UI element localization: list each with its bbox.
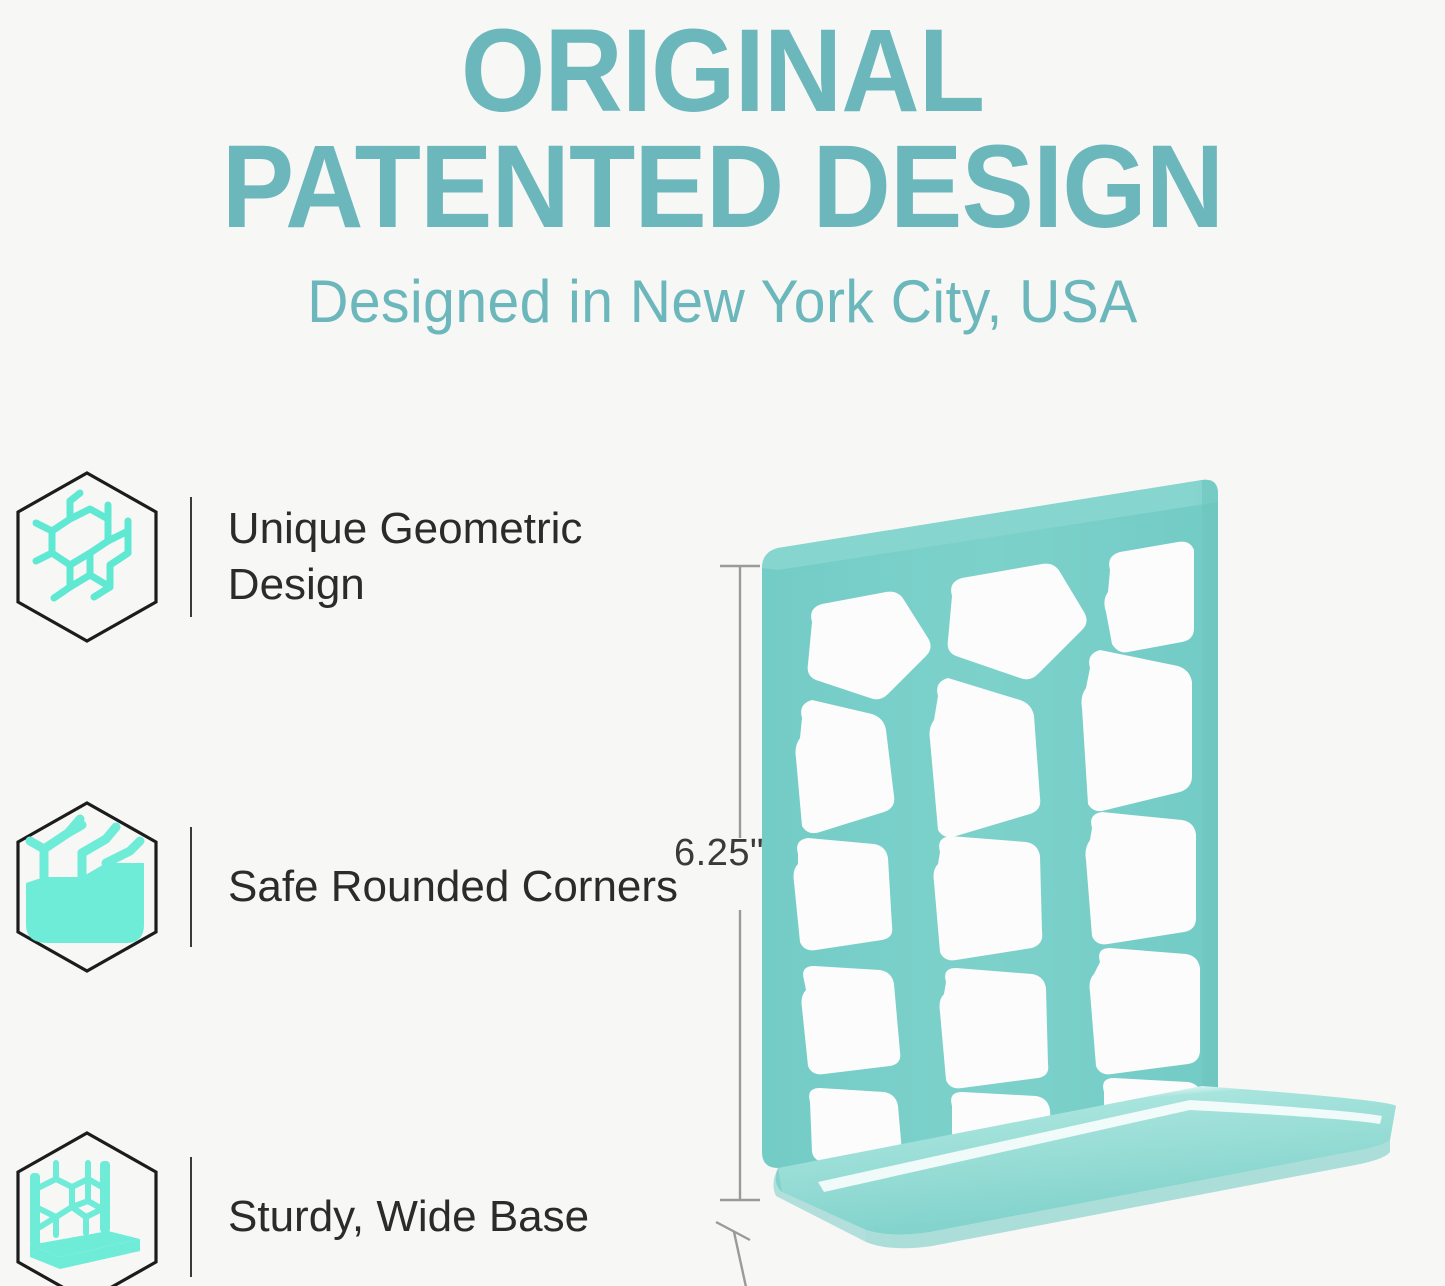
bookend-wide-base-icon bbox=[8, 1127, 166, 1286]
page-subtitle: Designed in New York City, USA bbox=[36, 267, 1409, 336]
page-title-line-2: PATENTED DESIGN bbox=[58, 130, 1387, 246]
bookend-illustration bbox=[690, 440, 1445, 1286]
feature-item-sturdy-wide-base: Sturdy, Wide Base bbox=[0, 1122, 589, 1286]
feature-item-unique-geometric-design: Unique Geometric Design bbox=[0, 462, 680, 652]
bookend-back-panel bbox=[762, 480, 1218, 1168]
product-infographic: ORIGINAL PATENTED DESIGN Designed in New… bbox=[0, 0, 1445, 1286]
page-title-line-1: ORIGINAL bbox=[58, 0, 1387, 130]
dimension-label-height: 6.25" bbox=[674, 832, 764, 875]
product-image-and-dimensions: 6.25" 3.25" 6.00" bbox=[690, 440, 1445, 1286]
feature-label: Unique Geometric Design bbox=[228, 501, 680, 614]
feature-divider bbox=[190, 827, 192, 947]
feature-divider bbox=[190, 497, 192, 617]
header: ORIGINAL PATENTED DESIGN Designed in New… bbox=[0, 0, 1445, 336]
feature-label: Safe Rounded Corners bbox=[228, 859, 678, 915]
feature-divider bbox=[190, 1157, 192, 1277]
rounded-corner-block-icon bbox=[8, 797, 166, 977]
feature-label: Sturdy, Wide Base bbox=[228, 1189, 589, 1245]
feature-item-safe-rounded-corners: Safe Rounded Corners bbox=[0, 792, 678, 982]
honeycomb-mesh-icon bbox=[8, 467, 166, 647]
